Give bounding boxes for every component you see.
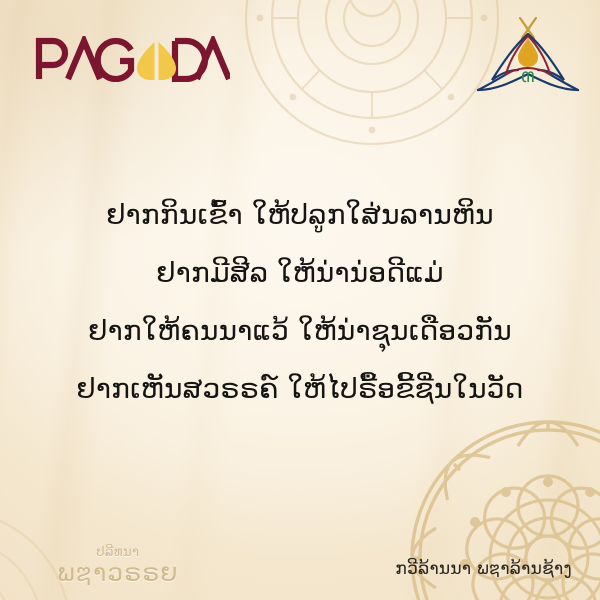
temple-emblem-icon: ຓ <box>476 12 580 100</box>
verse-line-4: ຢາກເຫັນສວຣຣຄ໌ ໃຫ້ໄປຣື້ອຂີ້ຊີ່ນໃນວັດ <box>0 360 600 418</box>
verse-line-1: ຢາກກິນເຂົ້າ ໃຫ້ປລູກໃສ່ນລານຫິນ <box>0 186 600 244</box>
poster-canvas: ຓ ຢາກກິນເຂົ້າ ໃຫ້ປລູກໃສ່ນລານຫິນ ຢາກມີສີລ… <box>0 0 600 600</box>
watermark-main-line: ພຌາວຣຣຍ <box>38 560 198 586</box>
author-credit: ກວີລ້ານນາ ພຌາລ້ານຊ້າງ <box>395 554 572 582</box>
verse-line-3: ຢາກໃຫ້ຄນນາແວ້ ໃຫ້ນ່າຊຸນເດືອວກັນ <box>0 302 600 360</box>
emblem-letter: ຓ <box>521 65 535 87</box>
verse-line-2: ຢາກມີສີລ ໃຫ້ນ່ານ່ອດີແມ່ <box>0 244 600 302</box>
pagoda-logo[interactable] <box>34 36 230 82</box>
verse-block: ຢາກກິນເຂົ້າ ໃຫ້ປລູກໃສ່ນລານຫິນ ຢາກມີສີລ ໃ… <box>0 186 600 418</box>
watermark-signature: ປລີທນາ ພຌາວຣຣຍ <box>38 546 198 586</box>
pagoda-lotus-glyph <box>137 42 176 80</box>
